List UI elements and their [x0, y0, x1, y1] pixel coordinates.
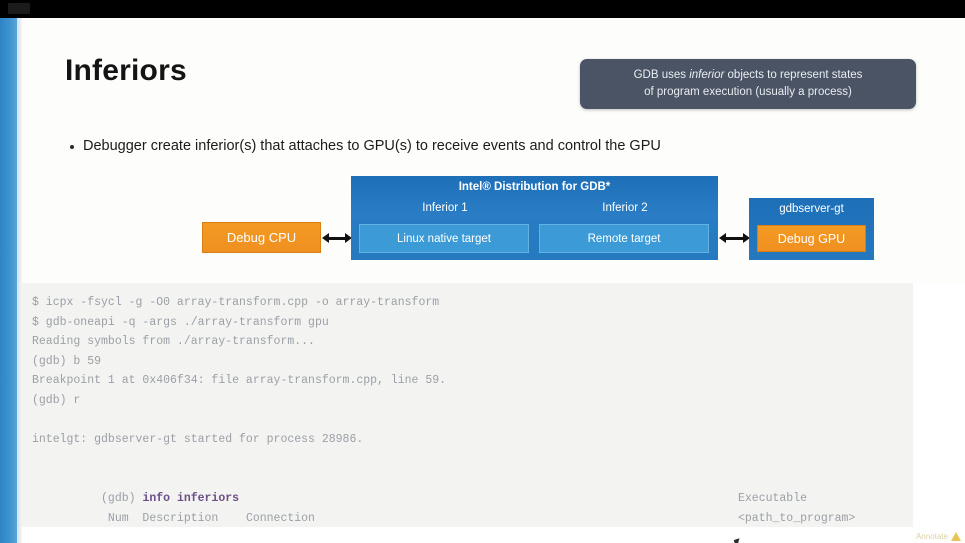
debug-cpu-box: Debug CPU [202, 222, 321, 253]
slide-surface: Inferiors GDB uses inferior objects to r… [22, 18, 965, 543]
slide-left-accent-stripe [0, 18, 17, 543]
linux-native-target-chip: Linux native target [359, 224, 529, 253]
terminal-line: Breakpoint 1 at 0x406f34: file array-tra… [32, 371, 965, 391]
gdbserver-gt-title: gdbserver-gt [749, 203, 874, 215]
gdb-title: Intel® Distribution for GDB* [351, 181, 718, 193]
terminal-line: Reading symbols from ./array-transform..… [32, 332, 965, 352]
terminal-blank-line [32, 450, 965, 470]
watermark-triangle-icon [951, 532, 961, 541]
table-row: 1 process 9463 1 (native) <path_to_progr… [32, 509, 965, 529]
debug-gpu-box: Debug GPU [757, 225, 866, 252]
console-bottom-margin [22, 527, 965, 543]
watermark-label: Annotate [916, 532, 948, 541]
terminal-blank-line [32, 411, 965, 431]
terminal-line: $ icpx -fsycl -g -O0 array-transform.cpp… [32, 293, 965, 313]
terminal-line: (gdb) b 59 [32, 352, 965, 372]
inferiors-table-header-executable: Executable [738, 489, 807, 509]
arrow-gdb-to-gdbserver-icon [719, 232, 750, 244]
console-right-margin [913, 283, 965, 543]
video-top-bar [0, 0, 965, 18]
terminal-lines: $ icpx -fsycl -g -O0 array-transform.cpp… [32, 293, 965, 543]
arrow-cpu-to-gdb-icon [322, 232, 352, 244]
watermark: Annotate [916, 532, 961, 541]
terminal-line: intelgt: gdbserver-gt started for proces… [32, 430, 965, 450]
gdb-container-box: Intel® Distribution for GDB* Inferior 1 … [351, 176, 718, 260]
terminal-line: $ gdb-oneapi -q -args ./array-transform … [32, 313, 965, 333]
inferior-1-label: Inferior 1 [357, 202, 533, 214]
terminal-line: (gdb) r [32, 391, 965, 411]
gdbserver-gt-box: gdbserver-gt Debug GPU [749, 198, 874, 260]
architecture-diagram: Debug CPU Intel® Distribution for GDB* I… [22, 18, 965, 318]
terminal-command-line: (gdb) info inferiors [32, 469, 965, 489]
screenshot-root: Inferiors GDB uses inferior objects to r… [0, 0, 965, 543]
terminal-output: $ icpx -fsycl -g -O0 array-transform.cpp… [22, 283, 965, 543]
video-control-glyph-icon [8, 3, 30, 14]
inferior-2-label: Inferior 2 [537, 202, 713, 214]
remote-target-chip: Remote target [539, 224, 709, 253]
inferiors-table-header: Num Description Connection Executable [32, 489, 965, 509]
inferior-row-1-executable: <path_to_program> [738, 509, 855, 529]
